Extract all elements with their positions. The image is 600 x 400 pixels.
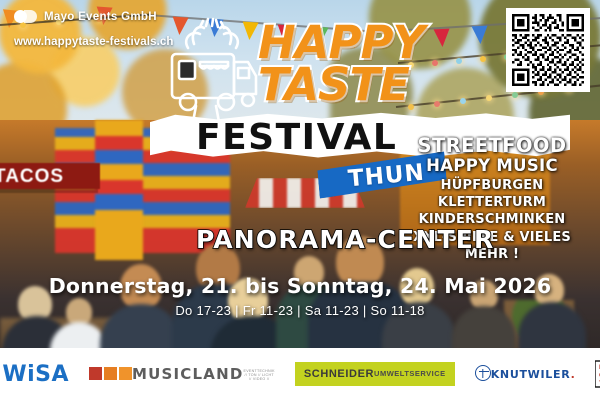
sponsor-huwiler[interactable]: Huwiler Getränke + Transporte AG: [595, 358, 600, 390]
venue-name: PANORAMA-CENTER: [196, 225, 494, 254]
title-line-taste: TASTE: [258, 64, 518, 106]
sponsor-knutwiler[interactable]: KNUTWILER.: [475, 365, 576, 383]
musicland-icons: [89, 367, 132, 380]
knutwiler-name: KNUTWILER: [491, 368, 571, 381]
feature-kletterturm: KLETTERTURM: [392, 194, 592, 211]
sponsor-diwisa[interactable]: DiWiSA: [0, 362, 69, 387]
qr-code-graphic: [512, 14, 584, 86]
brand-name: Mayo Events GmbH: [44, 11, 157, 23]
event-opening-hours: Do 17-23 | Fr 11-23 | Sa 11-23 | So 11-1…: [0, 303, 600, 318]
festival-title-happytaste: HAPPY TASTE: [258, 22, 518, 106]
schneider-subtitle: UMWELTSERVICE: [374, 370, 446, 378]
musicland-name: MUSICLAND: [132, 367, 243, 382]
qr-code-icon[interactable]: [506, 8, 590, 92]
feature-huepfburgen: HÜPFBURGEN: [392, 177, 592, 194]
sponsor-musicland[interactable]: MUSICLAND EVENTTECHNIK // TON // LICHT /…: [89, 367, 275, 382]
sponsor-schneider[interactable]: SCHNEIDER UMWELTSERVICE: [295, 362, 455, 386]
musicland-icon-red: [89, 367, 102, 380]
website-url[interactable]: www.happytaste-festivals.ch: [14, 36, 174, 48]
knutwiler-dot: .: [571, 368, 576, 381]
tacos-sign-text: TACOS: [0, 166, 104, 188]
brand-logo: Mayo Events GmbH: [14, 10, 157, 23]
musicland-tagline: EVENTTECHNIK // TON // LICHT // VIDEO //: [244, 369, 275, 381]
festival-poster: TACOS: [0, 0, 600, 400]
musicland-icon-orange: [104, 367, 117, 380]
musicland-icon-yellow: [119, 367, 132, 380]
feature-streetfood: STREETFOOD: [392, 136, 592, 156]
event-date: Donnerstag, 21. bis Sonntag, 24. Mai 202…: [0, 274, 600, 298]
feature-happy-music: HAPPY MUSIC: [392, 156, 592, 177]
schneider-name: SCHNEIDER: [304, 368, 374, 380]
sponsor-bar: BIRRA MORETTI L'AUTENTICA DAL 1859 DiWiS…: [0, 348, 600, 400]
circle-half-moon-icon: [14, 10, 37, 23]
title-line-festival: FESTIVAL: [196, 117, 397, 158]
knutwiler-emblem-icon: [475, 365, 491, 381]
